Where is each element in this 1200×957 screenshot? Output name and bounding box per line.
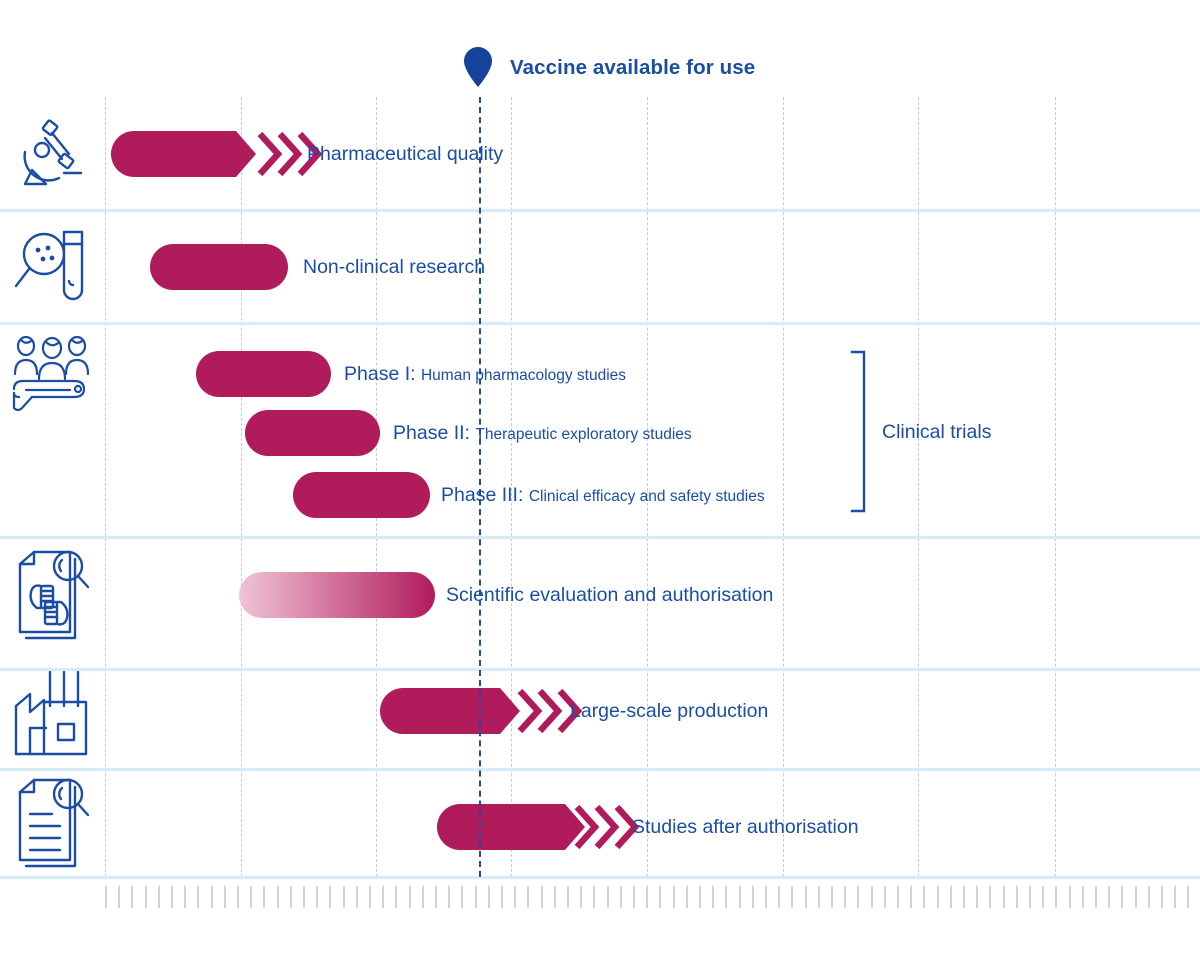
gridline-1	[241, 97, 242, 877]
axis-tick	[1029, 886, 1031, 908]
label-prefix-phase-3: Phase III:	[441, 484, 529, 506]
axis-tick	[620, 886, 622, 908]
axis-tick	[1042, 886, 1044, 908]
axis-tick	[184, 886, 186, 908]
axis-tick	[989, 886, 991, 908]
axis-tick	[1095, 886, 1097, 908]
axis-tick	[369, 886, 371, 908]
axis-tick	[554, 886, 556, 908]
icon-document-review-cell	[6, 550, 98, 642]
row-separator-0	[0, 209, 1200, 212]
bar-non-clinical-research[interactable]	[150, 244, 288, 290]
axis-tick	[329, 886, 331, 908]
label-prefix-phase-1: Phase I:	[344, 363, 421, 385]
chevron-trail-studies-after-authorisation	[573, 804, 639, 850]
axis-tick	[1161, 886, 1163, 908]
bar-pharmaceutical-quality[interactable]	[111, 131, 256, 177]
axis-tick	[818, 886, 820, 908]
axis-tick	[356, 886, 358, 908]
axis-tick	[250, 886, 252, 908]
axis-tick	[237, 886, 239, 908]
axis-tick	[1108, 886, 1110, 908]
axis-tick	[435, 886, 437, 908]
axis-tick	[844, 886, 846, 908]
axis-tick	[1016, 886, 1018, 908]
label-detail-phase-2: Therapeutic exploratory studies	[475, 426, 691, 443]
clinical-trials-bracket	[850, 350, 868, 518]
document-review-icon	[12, 550, 92, 642]
axis-tick	[171, 886, 173, 908]
label-scientific-evaluation: Scientific evaluation and authorisation	[446, 586, 773, 606]
axis-tick	[263, 886, 265, 908]
axis-tick	[211, 886, 213, 908]
axis-tick	[831, 886, 833, 908]
axis-tick	[593, 886, 595, 908]
axis-tick	[475, 886, 477, 908]
axis-tick	[118, 886, 120, 908]
axis-tick	[409, 886, 411, 908]
marker-label: Vaccine available for use	[510, 56, 755, 80]
axis-tick	[131, 886, 133, 908]
axis-tick	[580, 886, 582, 908]
axis-tick	[488, 886, 490, 908]
row-separator-1	[0, 322, 1200, 325]
microscope-icon	[12, 118, 92, 190]
axis-tick	[910, 886, 912, 908]
label-non-clinical-research: Non-clinical research	[303, 258, 485, 278]
label-prefix-phase-2: Phase II:	[393, 422, 475, 444]
row-separator-5	[0, 876, 1200, 879]
clinical-trials-label: Clinical trials	[882, 421, 991, 444]
axis-tick	[567, 886, 569, 908]
axis-tick	[290, 886, 292, 908]
label-phase-1: Phase I: Human pharmacology studies	[344, 365, 626, 385]
label-detail-phase-3: Clinical efficacy and safety studies	[529, 488, 765, 505]
axis-tick	[277, 886, 279, 908]
axis-tick	[448, 886, 450, 908]
axis-tick	[316, 886, 318, 908]
axis-tick	[105, 886, 107, 908]
bar-large-scale-production[interactable]	[380, 688, 520, 734]
row-separator-2	[0, 536, 1200, 539]
axis-tick	[1069, 886, 1071, 908]
factory-icon	[12, 668, 92, 760]
icon-test-tube-cell	[6, 228, 98, 306]
vaccine-development-timeline: Vaccine available for use	[0, 0, 1200, 957]
row-separator-3	[0, 668, 1200, 671]
axis-tick	[607, 886, 609, 908]
axis-tick	[197, 886, 199, 908]
axis-tick	[382, 886, 384, 908]
axis-tick	[303, 886, 305, 908]
bar-studies-after-authorisation[interactable]	[437, 804, 585, 850]
axis-tick	[1148, 886, 1150, 908]
label-studies-after-authorisation: Studies after authorisation	[632, 818, 859, 838]
label-large-scale-production: Large-scale production	[570, 702, 768, 722]
bar-phase-1[interactable]	[196, 351, 331, 397]
axis-tick	[963, 886, 965, 908]
axis-tick	[541, 886, 543, 908]
axis-tick	[791, 886, 793, 908]
axis-tick	[765, 886, 767, 908]
axis-tick	[659, 886, 661, 908]
axis-tick	[646, 886, 648, 908]
axis-tick	[950, 886, 952, 908]
icon-people-cell	[6, 334, 98, 414]
axis-tick	[673, 886, 675, 908]
axis-tick	[739, 886, 741, 908]
label-detail-phase-1: Human pharmacology studies	[421, 367, 626, 384]
bar-scientific-evaluation[interactable]	[239, 572, 435, 618]
axis-tick	[158, 886, 160, 908]
axis-tick	[1055, 886, 1057, 908]
axis-tick	[699, 886, 701, 908]
map-pin-icon	[464, 47, 492, 87]
axis-tick	[461, 886, 463, 908]
axis-tick	[1121, 886, 1123, 908]
icon-microscope-cell	[6, 118, 98, 190]
axis-tick	[712, 886, 714, 908]
timeline-tick-axis	[0, 886, 1200, 912]
axis-tick	[1174, 886, 1176, 908]
label-phase-3: Phase III: Clinical efficacy and safety …	[441, 486, 765, 506]
axis-tick	[871, 886, 873, 908]
gridline-7	[1055, 97, 1056, 877]
gridline-0	[105, 97, 106, 877]
axis-tick	[686, 886, 688, 908]
axis-tick	[343, 886, 345, 908]
gridline-5	[783, 97, 784, 877]
axis-tick	[897, 886, 899, 908]
label-pharmaceutical-quality: Pharmaceutical quality	[307, 145, 503, 165]
axis-tick	[514, 886, 516, 908]
people-in-hand-icon	[10, 334, 94, 414]
today-marker-line	[479, 97, 481, 877]
axis-tick	[884, 886, 886, 908]
axis-tick	[937, 886, 939, 908]
axis-tick	[1082, 886, 1084, 908]
axis-tick	[395, 886, 397, 908]
vaccine-available-marker: Vaccine available for use	[0, 44, 1200, 94]
axis-tick	[778, 886, 780, 908]
bar-phase-3[interactable]	[293, 472, 430, 518]
axis-tick	[1135, 886, 1137, 908]
axis-tick	[527, 886, 529, 908]
row-separator-4	[0, 768, 1200, 771]
test-tube-magnifier-icon	[12, 228, 92, 306]
axis-tick	[145, 886, 147, 908]
icon-factory-cell	[6, 668, 98, 760]
axis-tick	[501, 886, 503, 908]
axis-tick	[224, 886, 226, 908]
label-phase-2: Phase II: Therapeutic exploratory studie…	[393, 424, 692, 444]
gridline-6	[918, 97, 919, 877]
axis-tick	[1187, 886, 1189, 908]
axis-tick	[923, 886, 925, 908]
axis-tick	[752, 886, 754, 908]
axis-tick	[805, 886, 807, 908]
axis-tick	[422, 886, 424, 908]
axis-tick	[725, 886, 727, 908]
axis-tick	[976, 886, 978, 908]
icon-document-magnifier-cell	[6, 778, 98, 870]
axis-tick	[633, 886, 635, 908]
axis-tick	[1003, 886, 1005, 908]
document-magnifier-icon	[12, 778, 92, 870]
axis-tick	[857, 886, 859, 908]
bar-phase-2[interactable]	[245, 410, 380, 456]
